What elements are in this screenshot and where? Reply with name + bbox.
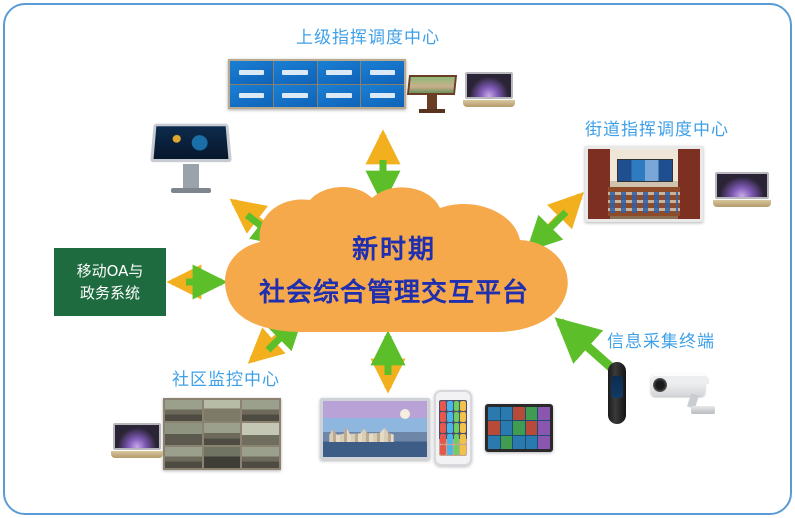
brand-logo-icon	[370, 93, 396, 98]
label-collection-terminal: 信息采集终端	[607, 327, 715, 352]
laptop-device-top	[465, 72, 513, 112]
oa-system-box[interactable]: 移动OA与 政务系统	[54, 248, 166, 316]
touch-table-base	[419, 109, 445, 113]
interactive-kiosk-device	[152, 122, 230, 196]
tile	[501, 407, 513, 420]
cctv-feed	[204, 400, 241, 421]
touch-table-device	[408, 75, 456, 115]
app-icon	[440, 401, 446, 411]
diagram-canvas: 新时期 社会综合管理交互平台 上级指挥调度中心 街道指挥调度中心 信息采集终端 …	[0, 0, 795, 518]
brand-logo-icon	[239, 70, 265, 75]
tablet-tile-screen	[488, 407, 550, 449]
tile	[526, 407, 538, 420]
conference-wall-right	[678, 149, 700, 219]
kiosk-base	[171, 188, 211, 193]
laptop-device-bottom-left	[113, 423, 161, 463]
oa-box-line2: 政务系统	[80, 282, 140, 305]
brand-logo-icon	[326, 70, 352, 75]
laptop-base	[713, 200, 771, 207]
app-icon	[440, 423, 446, 433]
tile	[526, 436, 538, 449]
label-street-command-center: 街道指挥调度中心	[585, 115, 729, 140]
label-community-monitoring: 社区监控中心	[172, 365, 280, 390]
video-wall-cell	[361, 61, 404, 84]
cctv-feed	[204, 447, 241, 468]
laptop-base	[463, 100, 515, 107]
app-icon	[454, 434, 460, 444]
app-icon	[454, 445, 460, 455]
app-icon	[447, 445, 453, 455]
video-wall-cell	[274, 85, 317, 108]
camera-base	[691, 406, 715, 414]
app-icon	[460, 434, 466, 444]
cloud-shape	[206, 186, 582, 336]
brand-logo-icon	[282, 70, 308, 75]
tv-cityscape-image	[329, 423, 393, 442]
app-icon	[460, 445, 466, 455]
app-icon	[460, 401, 466, 411]
app-icon	[454, 401, 460, 411]
tile	[538, 421, 550, 434]
video-wall-cell	[274, 61, 317, 84]
label-upper-command-center: 上级指挥调度中心	[296, 23, 440, 48]
kiosk-stand	[183, 164, 199, 188]
tile	[513, 436, 525, 449]
brand-logo-icon	[370, 70, 396, 75]
laptop-screen	[465, 72, 513, 99]
app-icon	[440, 412, 446, 422]
smartphone-device	[434, 390, 472, 466]
video-wall-grid	[230, 61, 404, 107]
windows-tablet-device	[485, 404, 553, 452]
camera-lens-icon	[653, 378, 667, 392]
video-wall-cell	[230, 85, 273, 108]
brand-logo-icon	[282, 93, 308, 98]
app-icon	[440, 445, 446, 455]
tv-display-device	[320, 398, 430, 460]
touch-table-surface	[407, 75, 457, 95]
wristband-screen	[611, 376, 623, 398]
app-icon	[460, 423, 466, 433]
app-icon	[447, 434, 453, 444]
tile	[538, 407, 550, 420]
tile	[488, 407, 500, 420]
touch-table-leg	[427, 95, 437, 109]
tile	[513, 421, 525, 434]
conference-chairs	[610, 192, 677, 213]
cctv-camera-device	[645, 368, 721, 420]
app-icon	[454, 423, 460, 433]
video-wall-display	[228, 59, 406, 109]
tile	[501, 421, 513, 434]
cctv-feed	[204, 423, 241, 444]
tile	[526, 421, 538, 434]
laptop-device-right	[715, 172, 769, 216]
camera-body	[651, 374, 705, 396]
cctv-feed	[242, 423, 279, 444]
cloud-platform[interactable]: 新时期 社会综合管理交互平台	[206, 186, 582, 336]
app-icon	[447, 401, 453, 411]
phone-home-screen	[439, 400, 467, 456]
app-icon	[440, 434, 446, 444]
cctv-feed	[165, 400, 202, 421]
laptop-screen	[715, 172, 769, 199]
video-wall-cell	[318, 61, 361, 84]
oa-box-line1: 移动OA与	[77, 260, 144, 283]
app-icon	[460, 412, 466, 422]
cctv-feed	[165, 423, 202, 444]
tv-sun-icon	[400, 409, 410, 419]
video-wall-cell	[318, 85, 361, 108]
video-wall-cell	[361, 85, 404, 108]
cctv-grid	[165, 400, 279, 468]
tile	[488, 421, 500, 434]
tile	[513, 407, 525, 420]
cctv-feed	[165, 447, 202, 468]
brand-logo-icon	[239, 93, 265, 98]
app-icon	[454, 412, 460, 422]
conference-display-wall	[617, 159, 673, 182]
cctv-feed	[242, 400, 279, 421]
conference-wall-left	[588, 149, 610, 219]
cctv-monitor-wall	[163, 398, 281, 470]
cctv-feed	[242, 447, 279, 468]
laptop-base	[111, 451, 163, 458]
kiosk-screen	[150, 124, 232, 163]
wristband-device	[608, 362, 626, 424]
tile	[488, 436, 500, 449]
tile	[538, 436, 550, 449]
app-icon	[447, 412, 453, 422]
tile	[501, 436, 513, 449]
laptop-screen	[113, 423, 161, 450]
conference-room-photo	[585, 146, 703, 222]
brand-logo-icon	[326, 93, 352, 98]
video-wall-cell	[230, 61, 273, 84]
app-icon	[447, 423, 453, 433]
